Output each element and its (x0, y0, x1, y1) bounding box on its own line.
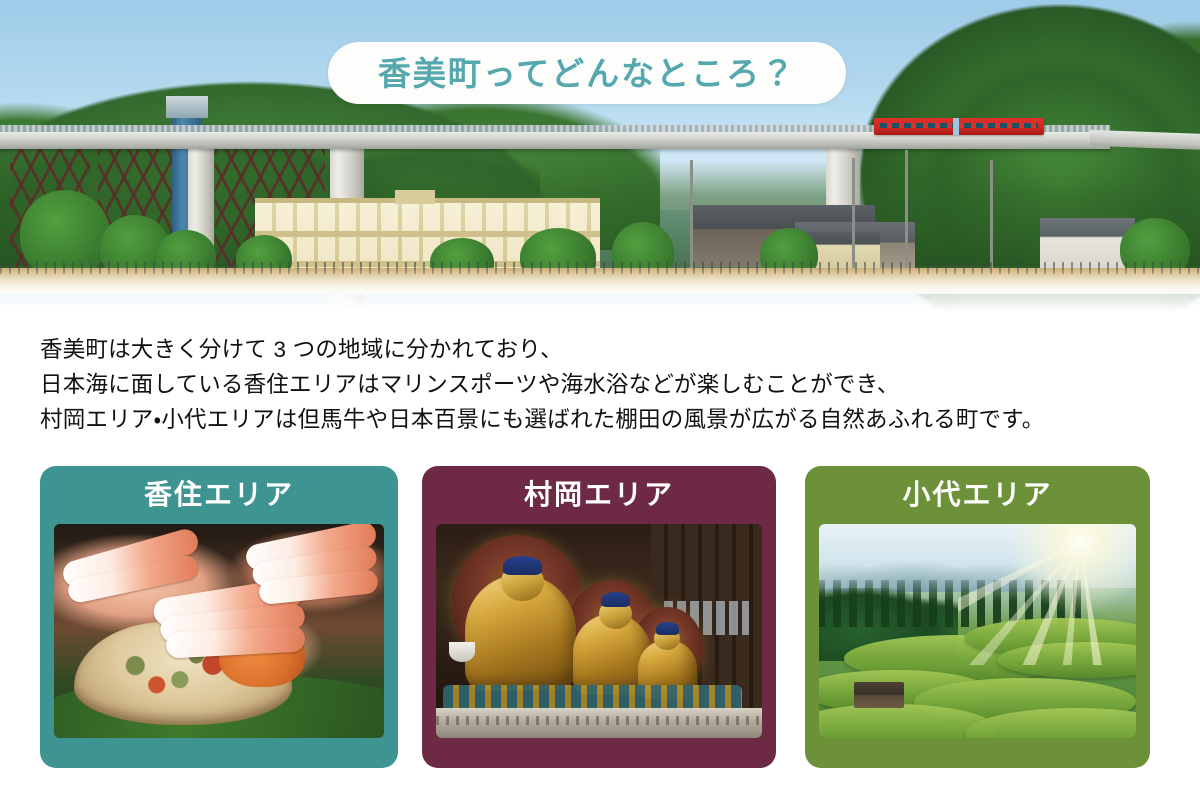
description-line-2: 日本海に面している香住エリアはマリンスポーツや海水浴などが楽しむことができ、 (40, 367, 1170, 402)
area-card-muraoka[interactable]: 村岡エリア (422, 466, 776, 768)
school-roof-clock (395, 190, 435, 204)
area-card-title: 小代エリア (805, 466, 1150, 524)
utility-pole (852, 158, 855, 278)
description-line-1: 香美町は大きく分けて 3 つの地域に分かれており、 (40, 332, 1170, 367)
buddha-hair (656, 622, 679, 635)
crab-dish-photo (54, 524, 384, 738)
area-card-title: 村岡エリア (422, 466, 776, 524)
utility-pole (690, 160, 693, 278)
temple-gong-icon (449, 642, 475, 662)
buddha-statues-photo (436, 524, 762, 738)
buddha-hair (503, 556, 542, 575)
description-line-3: 村岡エリア・小代エリアは但馬牛や日本百景にも選ばれた棚田の風景が広がる自然あふれ… (40, 402, 1170, 437)
page-title-banner: 香美町ってどんなところ？ (328, 42, 846, 104)
intro-description: 香美町は大きく分けて 3 つの地域に分かれており、 日本海に面している香住エリア… (40, 332, 1170, 437)
area-card-ojiro[interactable]: 小代エリア (805, 466, 1150, 768)
area-card-title: 香住エリア (40, 466, 398, 524)
hero-bottom-fade (0, 266, 1200, 312)
buddha-hair (601, 592, 630, 607)
area-card-kasumi[interactable]: 香住エリア (40, 466, 398, 768)
field-hut (854, 682, 904, 708)
tower-cap (166, 96, 208, 118)
altar-table (436, 708, 762, 738)
utility-pole (905, 150, 908, 280)
train-car-gap (953, 118, 959, 135)
lotus-pedestal-row (443, 685, 743, 709)
red-train (874, 118, 1044, 135)
hero-banner: 香美町ってどんなところ？ (0, 0, 1200, 312)
page-title: 香美町ってどんなところ？ (378, 57, 796, 90)
area-card-list: 香住エリア 村岡エリア (0, 466, 1200, 776)
rice-terraces-photo (819, 524, 1136, 738)
